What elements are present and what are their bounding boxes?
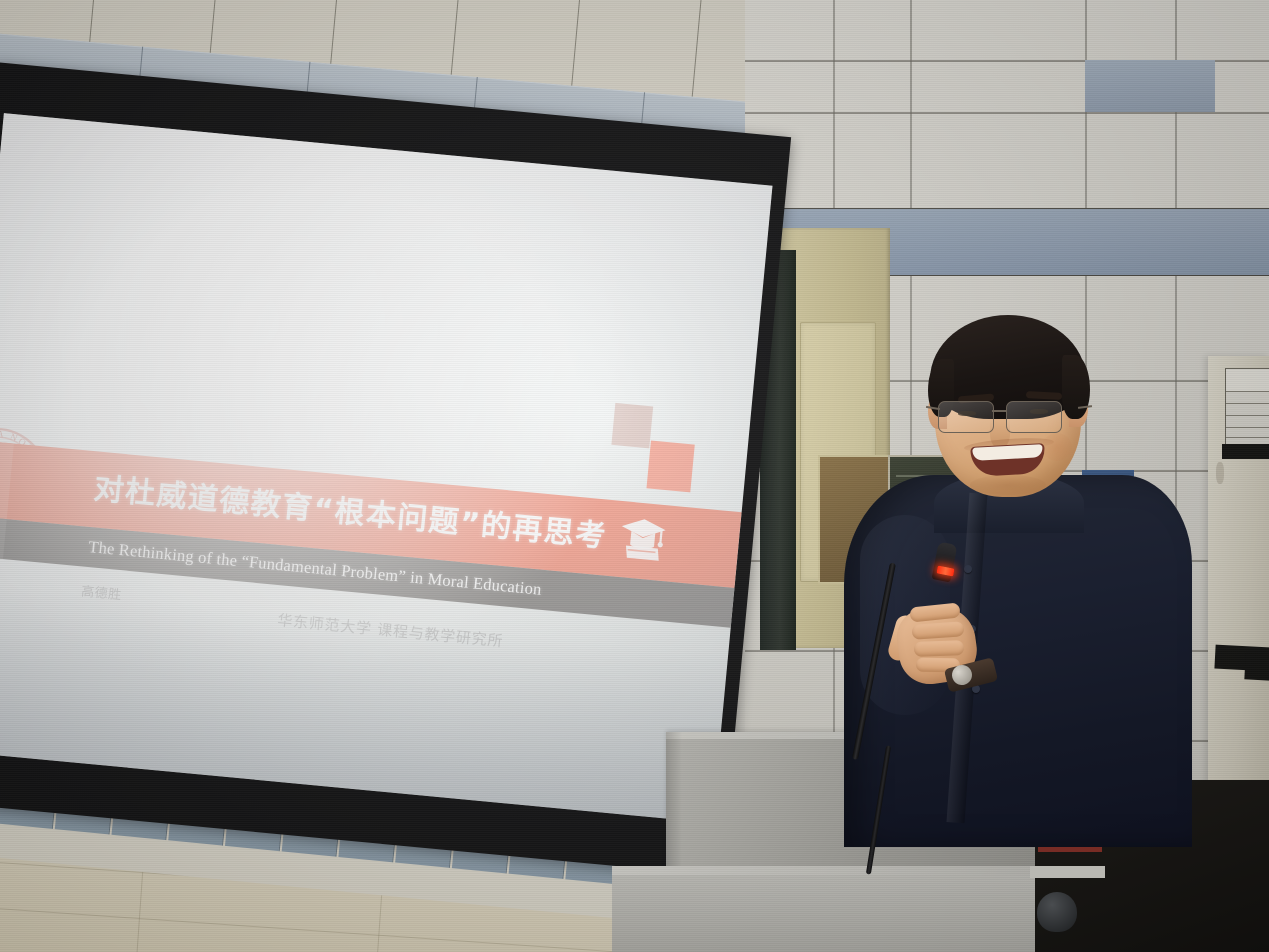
lectern-base-edge xyxy=(612,866,1082,875)
window-mullion xyxy=(1226,437,1269,438)
window-mullion xyxy=(1226,415,1269,416)
pillar-window-grid xyxy=(1225,368,1269,448)
glasses-lens-left xyxy=(938,401,994,433)
window-mullion xyxy=(1226,403,1269,404)
wall-grout-line xyxy=(745,112,1269,114)
window-mullion xyxy=(1226,391,1269,392)
pillar-dark-band-lower-b xyxy=(1244,653,1269,680)
lecture-hall-photo: EAST CHINA NORMAL UNIVERSITY 华东师范大学 xyxy=(0,0,1269,952)
presenter-teeth xyxy=(972,444,1043,461)
pillar-dark-band-upper xyxy=(1222,444,1269,459)
window-mullion xyxy=(1226,427,1269,428)
presenter-cheek xyxy=(1042,433,1072,461)
screen-vignette xyxy=(0,113,772,823)
screen-projection-surface: EAST CHINA NORMAL UNIVERSITY 华东师范大学 xyxy=(0,113,772,823)
desk-ledge xyxy=(1030,866,1105,878)
presenter-figure xyxy=(840,315,1220,835)
lectern-base xyxy=(612,866,1082,952)
presenter-chin-shadow xyxy=(970,475,1046,495)
glasses-bridge xyxy=(992,410,1006,412)
glasses-lens-right xyxy=(1006,401,1062,433)
right-wall-accent-small xyxy=(1085,60,1215,112)
computer-mouse[interactable] xyxy=(1037,892,1077,932)
